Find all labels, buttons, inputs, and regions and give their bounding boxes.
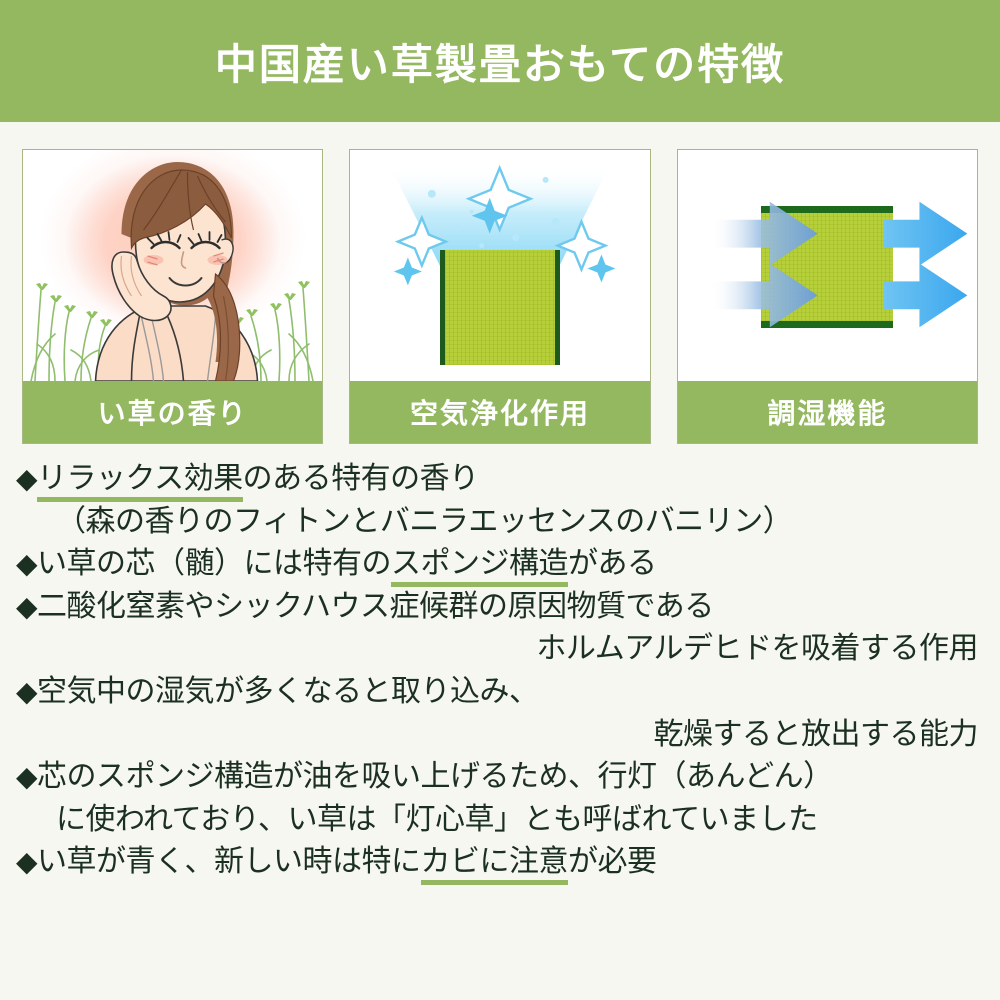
humidity-control-illustration: [678, 150, 977, 381]
feature-item: ◆リラックス効果のある特有の香り: [16, 458, 984, 501]
feature-text-underlined: リラックス効果: [37, 461, 243, 502]
feature-text: のある特有の香り: [243, 461, 479, 496]
igusa-fragrance-illustration: [23, 150, 322, 381]
feature-item: ◆い草が青く、新しい時は特にカビに注意が必要: [16, 841, 984, 884]
airflow-arrows-icon: [678, 150, 977, 381]
bullet-diamond-icon: ◆: [16, 547, 37, 580]
bullet-diamond-icon: ◆: [16, 462, 37, 495]
feature-item: ◆い草の芯（髄）には特有のスポンジ構造がある: [16, 543, 984, 586]
bullet-diamond-icon: ◆: [16, 675, 37, 708]
bullet-diamond-icon: ◆: [16, 760, 37, 793]
feature-continuation: に使われており、い草は「灯心草」とも呼ばれていました: [16, 799, 984, 842]
feature-text-underlined: スポンジ構造: [391, 546, 568, 587]
feature-text-underlined: カビに注意: [421, 844, 569, 885]
feature-text: い草の芯（髄）には特有の: [37, 546, 391, 581]
feature-item: ◆空気中の湿気が多くなると取り込み、: [16, 671, 984, 714]
feature-continuation: 乾燥すると放出する能力: [16, 714, 984, 757]
page-header: 中国産い草製畳おもての特徴: [0, 0, 1000, 122]
woman-illustration-icon: [65, 156, 280, 381]
feature-item: ◆芯のスポンジ構造が油を吸い上げるため、行灯（あんどん）: [16, 756, 984, 799]
feature-card-row: い草の香り: [0, 122, 1000, 444]
feature-continuation: （森の香りのフィトンとバニラエッセンスのバニリン）: [16, 501, 984, 544]
feature-text: 空気中の湿気が多くなると取り込み、: [37, 674, 539, 709]
feature-card-air-purification[interactable]: 空気浄化作用: [349, 149, 650, 444]
feature-list: ◆リラックス効果のある特有の香り （森の香りのフィトンとバニラエッセンスのバニリ…: [0, 444, 1000, 884]
tatami-mat-purification: [440, 250, 560, 365]
feature-item: ◆二酸化窒素やシックハウス症候群の原因物質である: [16, 586, 984, 629]
feature-card-humidity-control[interactable]: 調湿機能: [677, 149, 978, 444]
feature-card-label-air-purification: 空気浄化作用: [350, 381, 649, 443]
page-title: 中国産い草製畳おもての特徴: [215, 31, 785, 92]
feature-text: い草が青く、新しい時は特に: [37, 844, 421, 879]
feature-text: が必要: [568, 844, 657, 879]
feature-card-label-igusa-fragrance: い草の香り: [23, 381, 322, 443]
feature-card-label-humidity-control: 調湿機能: [678, 381, 977, 443]
feature-text: 二酸化窒素やシックハウス症候群の原因物質である: [37, 589, 714, 624]
bullet-diamond-icon: ◆: [16, 590, 37, 623]
feature-text: 芯のスポンジ構造が油を吸い上げるため、行灯（あんどん）: [37, 759, 833, 794]
feature-continuation: ホルムアルデヒドを吸着する作用: [16, 628, 984, 671]
bullet-diamond-icon: ◆: [16, 845, 37, 878]
page-root: 中国産い草製畳おもての特徴: [0, 0, 1000, 1000]
feature-card-igusa-fragrance[interactable]: い草の香り: [22, 149, 323, 444]
air-purification-illustration: [350, 150, 649, 381]
feature-text: がある: [568, 546, 657, 581]
